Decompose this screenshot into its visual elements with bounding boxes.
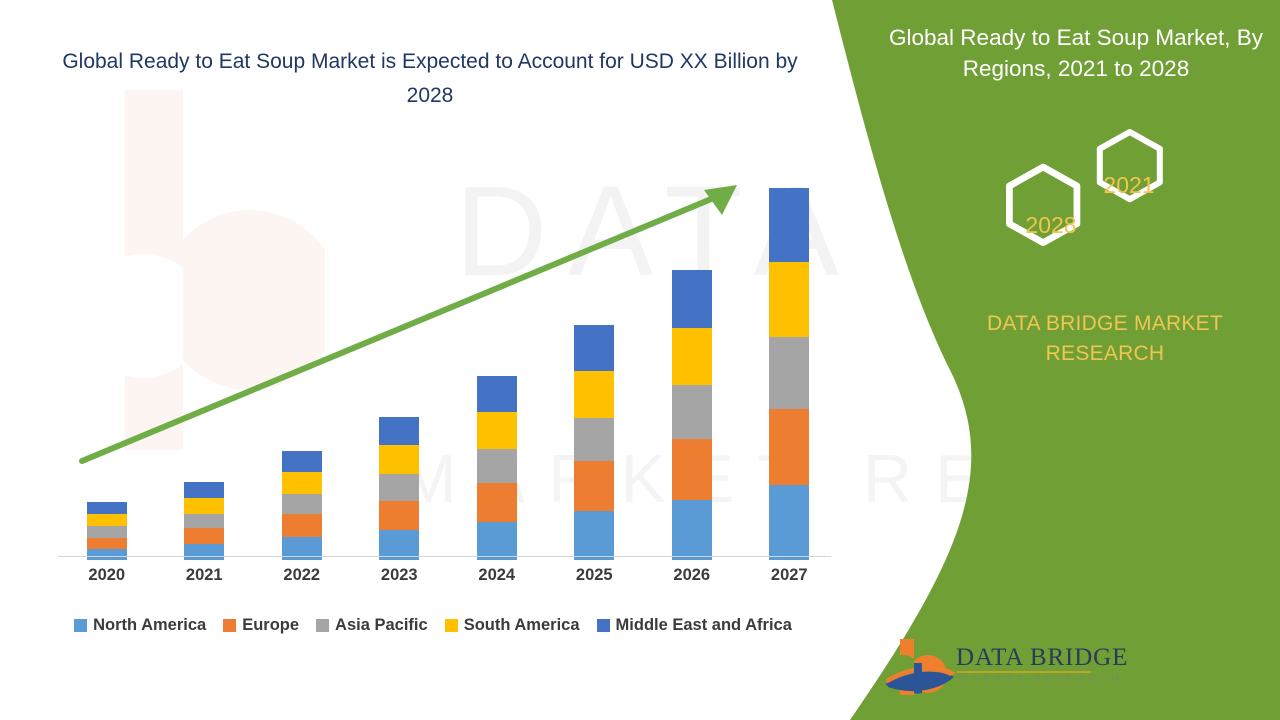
bar-segment-middle-east-and-africa [477, 376, 517, 413]
bar-segment-middle-east-and-africa [574, 325, 614, 372]
legend-swatch-icon [223, 619, 236, 632]
hexagon-label-2021: 2021 [1086, 172, 1172, 199]
legend-label: North America [93, 616, 206, 635]
legend-swatch-icon [597, 619, 610, 632]
x-tick-2023: 2023 [351, 566, 447, 585]
bar-segment-north-america [672, 500, 712, 560]
legend-swatch-icon [445, 619, 458, 632]
bar-segment-asia-pacific [184, 514, 224, 528]
bar-segment-middle-east-and-africa [769, 188, 809, 262]
bar-segment-europe [574, 461, 614, 511]
bar-group-2023 [379, 417, 419, 560]
bar-segment-south-america [282, 472, 322, 494]
bar-segment-asia-pacific [672, 385, 712, 439]
bar-segment-asia-pacific [282, 494, 322, 514]
x-tick-2025: 2025 [546, 566, 642, 585]
bar-segment-europe [379, 501, 419, 530]
bar-group-2022 [282, 451, 322, 561]
bar-segment-europe [477, 483, 517, 522]
bar-segment-south-america [477, 412, 517, 449]
bar-segment-middle-east-and-africa [672, 270, 712, 329]
bar-segment-south-america [379, 445, 419, 474]
bar-group-2020 [87, 502, 127, 560]
bar-segment-asia-pacific [574, 418, 614, 462]
logo-text-main: DATA BRIDGE [956, 644, 1128, 672]
bar-group-2025 [574, 325, 614, 561]
legend-label: Middle East and Africa [616, 616, 792, 635]
bar-segment-north-america [477, 522, 517, 560]
bar-segment-asia-pacific [769, 337, 809, 408]
logo-divider-rule [957, 671, 1091, 673]
legend-item-north-america[interactable]: North America [74, 616, 206, 635]
bar-segment-europe [282, 514, 322, 537]
chart-axis-baseline [58, 556, 831, 557]
panel-brand-text: DATA BRIDGE MARKET RESEARCH [940, 309, 1270, 369]
legend-label: Asia Pacific [335, 616, 428, 635]
bar-group-2021 [184, 482, 224, 560]
legend-item-south-america[interactable]: South America [445, 616, 580, 635]
legend-swatch-icon [316, 619, 329, 632]
bar-segment-middle-east-and-africa [87, 502, 127, 514]
bar-segment-asia-pacific [379, 474, 419, 501]
bar-segment-north-america [574, 511, 614, 560]
bar-group-2024 [477, 376, 517, 561]
x-tick-2022: 2022 [254, 566, 350, 585]
bar-segment-north-america [87, 549, 127, 560]
chart-legend: North AmericaEuropeAsia PacificSouth Ame… [0, 616, 866, 635]
bar-segment-north-america [769, 485, 809, 560]
chart-title: Global Ready to Eat Soup Market is Expec… [60, 45, 800, 113]
chart-x-axis-labels: 20202021202220232024202520262027 [58, 566, 838, 596]
bar-segment-asia-pacific [477, 449, 517, 483]
bar-segment-europe [184, 528, 224, 544]
hexagon-label-2028: 2028 [1008, 212, 1094, 239]
bar-segment-europe [672, 439, 712, 500]
bar-segment-south-america [574, 371, 614, 418]
bar-segment-middle-east-and-africa [379, 417, 419, 446]
legend-item-middle-east-and-africa[interactable]: Middle East and Africa [597, 616, 792, 635]
bar-chart-plot [58, 160, 838, 560]
bar-group-2026 [672, 270, 712, 560]
legend-swatch-icon [74, 619, 87, 632]
logo-text-sub: MARKET RESEARCH [958, 674, 1123, 685]
panel-heading: Global Ready to Eat Soup Market, By Regi… [872, 22, 1280, 84]
x-tick-2024: 2024 [449, 566, 545, 585]
legend-label: South America [464, 616, 580, 635]
bar-segment-south-america [87, 514, 127, 526]
bar-segment-north-america [184, 544, 224, 561]
x-tick-2020: 2020 [59, 566, 155, 585]
x-tick-2021: 2021 [156, 566, 252, 585]
x-tick-2026: 2026 [644, 566, 740, 585]
bar-segment-south-america [672, 328, 712, 385]
bar-segment-europe [769, 409, 809, 486]
bar-segment-europe [87, 538, 127, 549]
bar-segment-south-america [184, 498, 224, 514]
bar-segment-south-america [769, 262, 809, 337]
bar-segment-asia-pacific [87, 526, 127, 537]
legend-item-europe[interactable]: Europe [223, 616, 299, 635]
bar-segment-middle-east-and-africa [184, 482, 224, 498]
legend-item-asia-pacific[interactable]: Asia Pacific [316, 616, 428, 635]
bar-segment-middle-east-and-africa [282, 451, 322, 473]
bar-group-2027 [769, 188, 809, 560]
legend-label: Europe [242, 616, 299, 635]
